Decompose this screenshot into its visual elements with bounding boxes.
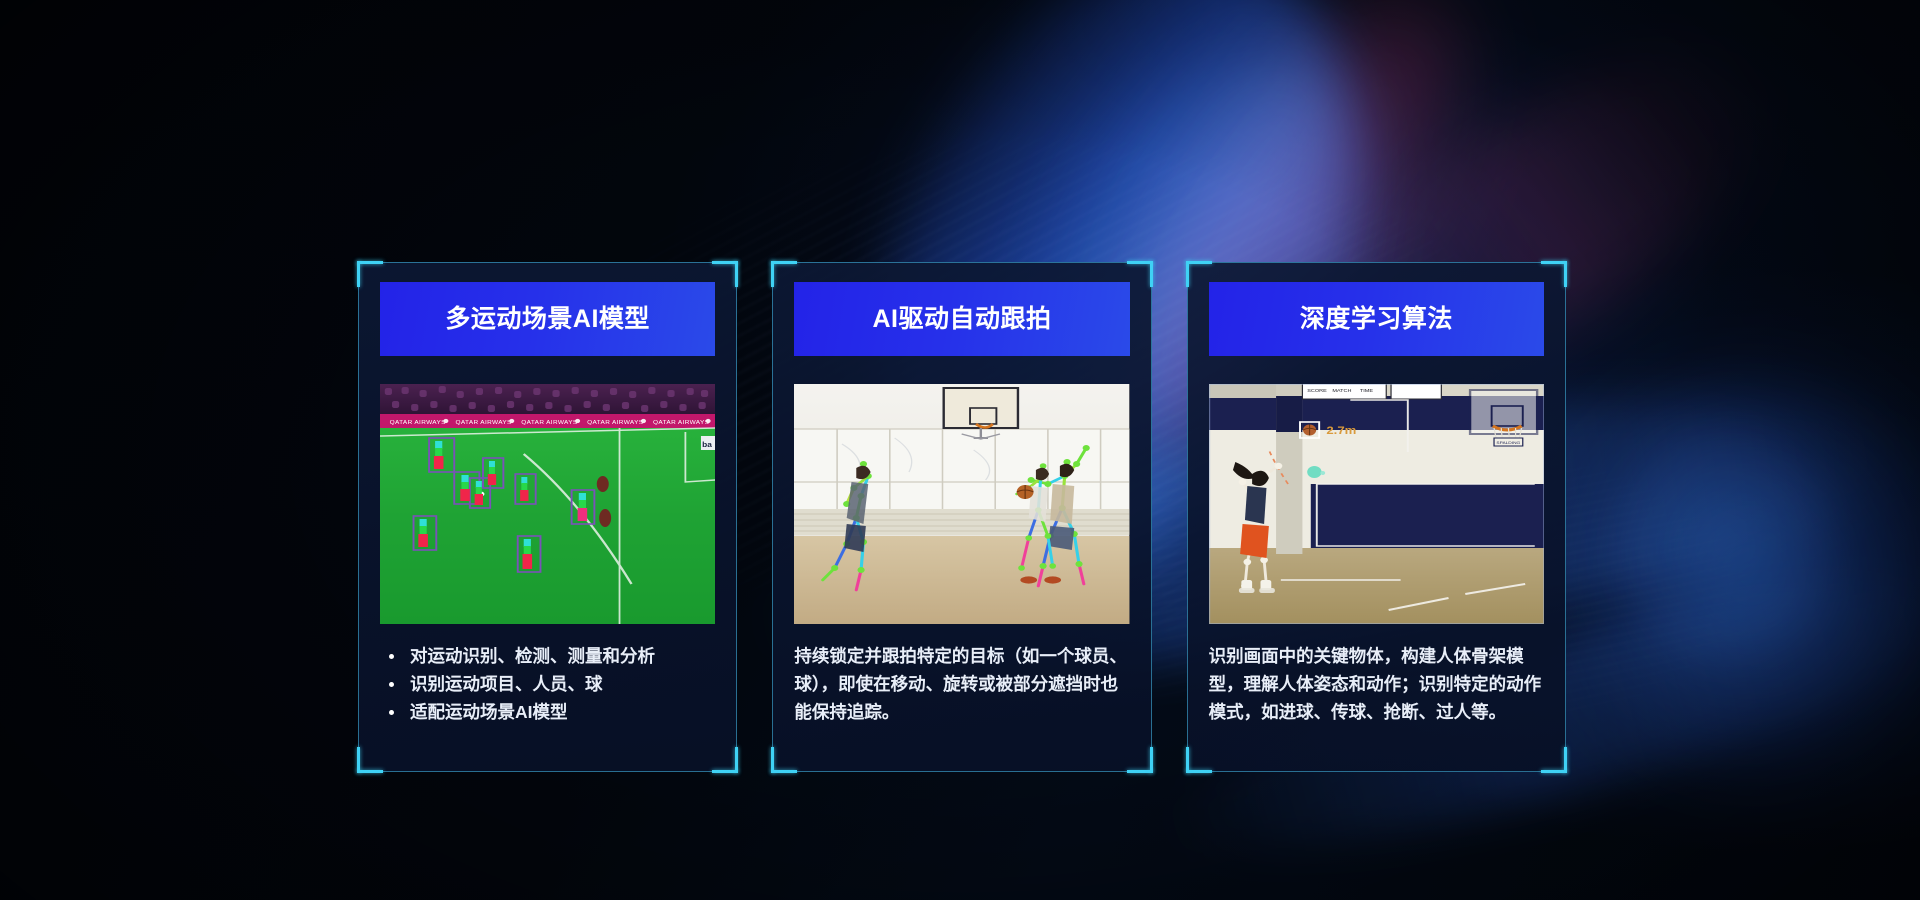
card-media-soccer-detection[interactable]: QATAR AIRWAYS QATAR AIRWAYS QATAR AIRWAY…	[380, 384, 715, 624]
feature-card-ai-auto-tracking[interactable]: AI驱动自动跟拍	[772, 262, 1151, 772]
svg-text:TIME: TIME	[1360, 388, 1374, 393]
card-title: 深度学习算法	[1300, 307, 1453, 332]
corner-bracket-bottom-right	[712, 747, 738, 773]
card-media-shot-tracking[interactable]: SCORE MATCH TIME SPALDING	[1209, 384, 1544, 624]
list-item: 适配运动场景AI模型	[380, 698, 719, 726]
svg-text:QATAR AIRWAYS: QATAR AIRWAYS	[587, 420, 643, 425]
card-body: 识别画面中的关键物体，构建人体骨架模型，理解人体姿态和动作；识别特定的动作模式，…	[1209, 642, 1548, 726]
feature-card-multi-sport-ai-model[interactable]: 多运动场景AI模型	[358, 262, 737, 772]
card-header-banner: 深度学习算法	[1209, 282, 1544, 356]
card-body: 对运动识别、检测、测量和分析 识别运动项目、人员、球 适配运动场景AI模型	[380, 642, 719, 726]
corner-bracket-bottom-left	[1186, 747, 1212, 773]
svg-text:QATAR AIRWAYS: QATAR AIRWAYS	[455, 420, 511, 425]
corner-bracket-bottom-right	[1127, 747, 1153, 773]
list-item: 对运动识别、检测、测量和分析	[380, 642, 719, 670]
card-media-basketball-pose[interactable]	[794, 384, 1129, 624]
svg-text:MATCH: MATCH	[1332, 388, 1352, 393]
corner-bracket-top-right	[712, 261, 738, 287]
svg-text:QATAR AIRWAYS: QATAR AIRWAYS	[521, 420, 577, 425]
corner-bracket-bottom-left	[357, 747, 383, 773]
svg-text:2.7m: 2.7m	[1326, 424, 1356, 437]
corner-bracket-bottom-left	[771, 747, 797, 773]
card-title: 多运动场景AI模型	[445, 307, 650, 332]
paragraph: 持续锁定并跟拍特定的目标（如一个球员、球），即使在移动、旋转或被部分遮挡时也能保…	[794, 642, 1133, 726]
bullet-list: 对运动识别、检测、测量和分析 识别运动项目、人员、球 适配运动场景AI模型	[380, 642, 719, 726]
feature-card-deep-learning-algorithm[interactable]: 深度学习算法	[1187, 262, 1566, 772]
card-header-banner: 多运动场景AI模型	[380, 282, 715, 356]
feature-card-row: 多运动场景AI模型	[358, 262, 1566, 772]
svg-text:SPALDING: SPALDING	[1496, 440, 1520, 445]
paragraph: 识别画面中的关键物体，构建人体骨架模型，理解人体姿态和动作；识别特定的动作模式，…	[1209, 642, 1548, 726]
svg-text:ba: ba	[702, 441, 713, 449]
slide-canvas: 多运动场景AI模型	[0, 0, 1920, 900]
card-title: AI驱动自动跟拍	[872, 307, 1051, 332]
card-header-banner: AI驱动自动跟拍	[794, 282, 1129, 356]
list-item: 识别运动项目、人员、球	[380, 670, 719, 698]
svg-text:SCORE: SCORE	[1307, 388, 1327, 393]
corner-bracket-top-right	[1541, 261, 1567, 287]
card-body: 持续锁定并跟拍特定的目标（如一个球员、球），即使在移动、旋转或被部分遮挡时也能保…	[794, 642, 1133, 726]
corner-bracket-bottom-right	[1541, 747, 1567, 773]
svg-text:QATAR AIRWAYS: QATAR AIRWAYS	[390, 420, 446, 425]
svg-text:QATAR AIRWAYS: QATAR AIRWAYS	[653, 420, 709, 425]
corner-bracket-top-right	[1127, 261, 1153, 287]
